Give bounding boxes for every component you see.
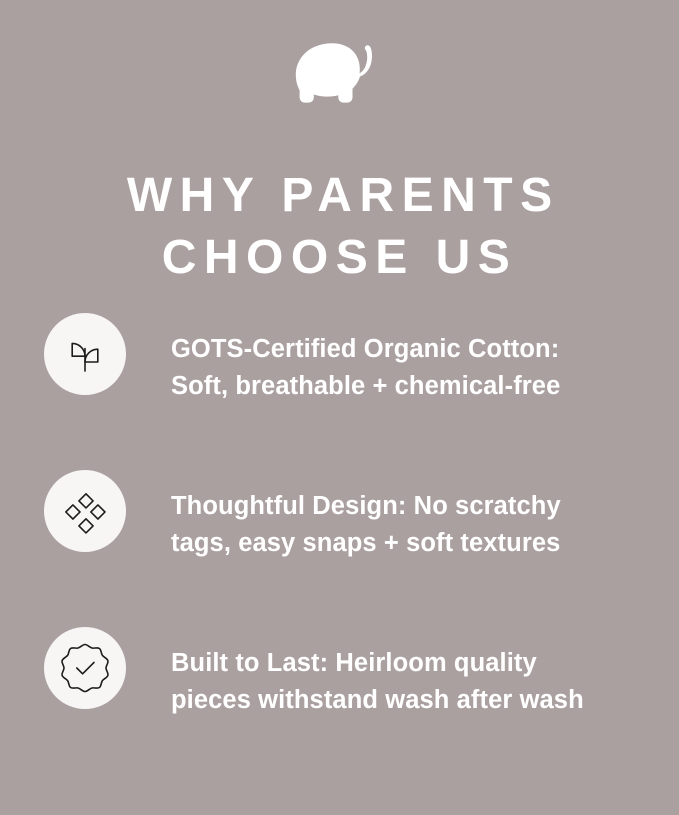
why-parents-choose-us-infographic: WHY PARENTS CHOOSE US GOTS-Certified Org… <box>0 0 679 815</box>
scalloped-badge-check-icon <box>60 643 110 693</box>
brand-logo <box>0 36 679 108</box>
icon-badge-organic-cotton <box>44 313 126 395</box>
feature-row-thoughtful-design: Thoughtful Design: No scratchy tags, eas… <box>0 462 679 619</box>
page-title: WHY PARENTS CHOOSE US <box>0 165 679 289</box>
elephant-icon <box>294 39 386 105</box>
feature-text-thoughtful-design: Thoughtful Design: No scratchy tags, eas… <box>171 488 641 562</box>
four-diamonds-snaps-icon <box>62 488 108 534</box>
feature-text-organic-cotton: GOTS-Certified Organic Cotton: Soft, bre… <box>171 331 641 405</box>
icon-badge-built-to-last <box>44 627 126 709</box>
feature-list: GOTS-Certified Organic Cotton: Soft, bre… <box>0 305 679 776</box>
icon-badge-thoughtful-design <box>44 470 126 552</box>
sprout-leaf-icon <box>62 331 108 377</box>
feature-row-organic-cotton: GOTS-Certified Organic Cotton: Soft, bre… <box>0 305 679 462</box>
feature-row-built-to-last: Built to Last: Heirloom quality pieces w… <box>0 619 679 776</box>
feature-text-built-to-last: Built to Last: Heirloom quality pieces w… <box>171 645 641 719</box>
